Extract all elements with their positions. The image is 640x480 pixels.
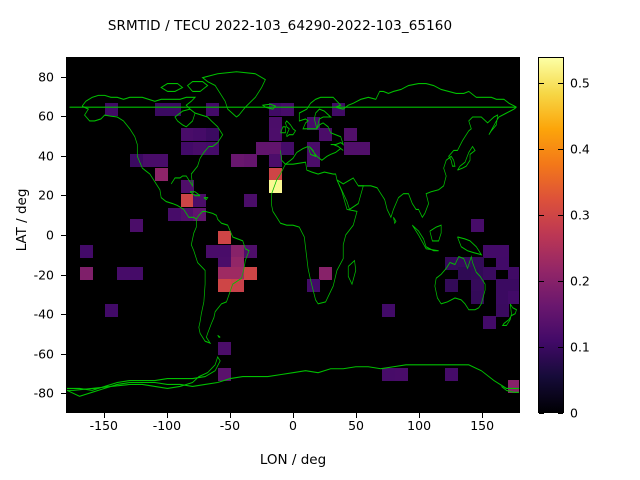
- heatmap-cell: [269, 128, 282, 141]
- chart-title: SRMTID / TECU 2022-103_64290-2022-103_65…: [0, 18, 560, 34]
- heatmap-cell: [395, 368, 408, 381]
- heatmap-cell: [244, 154, 257, 167]
- heatmap-cell: [181, 180, 194, 193]
- colorbar-tick-mark: [558, 347, 563, 348]
- heatmap-cell: [471, 291, 484, 304]
- heatmap-cell: [117, 267, 130, 280]
- heatmap-cell: [231, 279, 244, 292]
- y-axis-tick-label: -40: [0, 307, 54, 322]
- colorbar-tick-mark: [558, 215, 563, 216]
- heatmap-cell: [206, 245, 219, 258]
- heatmap-cell: [281, 142, 294, 155]
- heatmap-cell: [508, 291, 520, 304]
- x-axis-tick-label: 50: [321, 418, 391, 433]
- x-axis-tick-label: 0: [258, 418, 328, 433]
- x-axis-tick-label: 150: [447, 418, 517, 433]
- heatmap-cell: [244, 245, 257, 258]
- y-axis-tick-mark: [61, 314, 67, 315]
- heatmap-cell: [256, 142, 269, 155]
- y-axis-tick-mark: [61, 393, 67, 394]
- colorbar-tick-mark: [539, 281, 544, 282]
- heatmap-cell: [458, 267, 471, 280]
- heatmap-cell: [357, 142, 370, 155]
- heatmap-cell: [206, 128, 219, 141]
- heatmap-cell: [281, 103, 294, 116]
- colorbar-tick-mark: [539, 347, 544, 348]
- y-axis-tick-mark: [61, 195, 67, 196]
- heatmap-cell: [105, 304, 118, 317]
- heatmap-cell: [80, 267, 93, 280]
- heatmap-cell: [231, 154, 244, 167]
- heatmap-cell: [483, 316, 496, 329]
- heatmap-cell: [496, 257, 509, 270]
- x-axis-tick-label: -150: [69, 418, 139, 433]
- colorbar: [538, 57, 564, 413]
- heatmap-cell: [181, 142, 194, 155]
- y-axis-tick-label: -60: [0, 346, 54, 361]
- heatmap-cell: [344, 142, 357, 155]
- heatmap-cell: [496, 291, 509, 304]
- colorbar-tick-label: 0.4: [570, 142, 590, 157]
- heatmap-cell: [307, 154, 320, 167]
- heatmap-cell: [508, 380, 520, 393]
- y-axis-tick-mark: [61, 235, 67, 236]
- heatmap-cell: [181, 128, 194, 141]
- heatmap-cell: [382, 304, 395, 317]
- heatmap-cell: [181, 194, 194, 207]
- heatmap-cell: [218, 342, 231, 355]
- colorbar-tick-mark: [558, 413, 563, 414]
- y-axis-tick-mark: [61, 275, 67, 276]
- chart-root: SRMTID / TECU 2022-103_64290-2022-103_65…: [0, 0, 640, 480]
- colorbar-tick-label: 0.1: [570, 340, 590, 355]
- colorbar-tick-mark: [539, 413, 544, 414]
- heatmap-cell: [155, 154, 168, 167]
- colorbar-tick-label: 0.3: [570, 208, 590, 223]
- heatmap-cell: [168, 103, 181, 116]
- colorbar-tick-label: 0.5: [570, 76, 590, 91]
- y-axis-label: LAT / deg: [14, 160, 30, 280]
- heatmap-plot-area: [66, 57, 520, 413]
- x-axis-tick-mark: [167, 413, 168, 418]
- heatmap-cell: [155, 168, 168, 181]
- heatmap-cell: [307, 279, 320, 292]
- heatmap-cell: [80, 245, 93, 258]
- heatmap-cell: [319, 128, 332, 141]
- y-axis-tick-mark: [61, 156, 67, 157]
- heatmap-cell: [332, 103, 345, 116]
- x-axis-tick-mark: [230, 413, 231, 418]
- colorbar-tick-label: 0: [570, 406, 578, 421]
- colorbar-tick-mark: [539, 149, 544, 150]
- heatmap-cell: [269, 154, 282, 167]
- heatmap-cell: [130, 154, 143, 167]
- heatmap-cell: [105, 103, 118, 116]
- heatmap-cell: [307, 117, 320, 130]
- heatmap-cell: [168, 208, 181, 221]
- heatmap-cell: [206, 142, 219, 155]
- heatmap-cell: [218, 368, 231, 381]
- colorbar-tick-mark: [558, 83, 563, 84]
- heatmap-cell: [130, 267, 143, 280]
- heatmap-cell: [344, 128, 357, 141]
- heatmap-cells-layer: [67, 58, 519, 412]
- y-axis-tick-label: 80: [0, 69, 54, 84]
- colorbar-tick-mark: [539, 83, 544, 84]
- heatmap-cell: [382, 368, 395, 381]
- colorbar-tick-mark: [558, 149, 563, 150]
- colorbar-tick-label: 0.2: [570, 274, 590, 289]
- heatmap-cell: [445, 368, 458, 381]
- y-axis-tick-mark: [61, 77, 67, 78]
- heatmap-cell: [143, 154, 156, 167]
- heatmap-cell: [155, 103, 168, 116]
- y-axis-tick-mark: [61, 354, 67, 355]
- heatmap-cell: [496, 304, 509, 317]
- colorbar-tick-mark: [558, 281, 563, 282]
- heatmap-cell: [269, 180, 282, 193]
- heatmap-cell: [218, 279, 231, 292]
- heatmap-cell: [193, 194, 206, 207]
- heatmap-cell: [445, 257, 458, 270]
- heatmap-cell: [181, 208, 194, 221]
- y-axis-tick-mark: [61, 116, 67, 117]
- heatmap-cell: [483, 245, 496, 258]
- heatmap-cell: [130, 219, 143, 232]
- heatmap-cell: [218, 231, 231, 244]
- heatmap-cell: [244, 194, 257, 207]
- y-axis-tick-label: 60: [0, 109, 54, 124]
- heatmap-cell: [193, 142, 206, 155]
- x-axis-tick-mark: [356, 413, 357, 418]
- y-axis-tick-label: -80: [0, 386, 54, 401]
- x-axis-tick-mark: [293, 413, 294, 418]
- x-axis-tick-mark: [104, 413, 105, 418]
- heatmap-cell: [471, 219, 484, 232]
- heatmap-cell: [483, 267, 496, 280]
- heatmap-cell: [193, 208, 206, 221]
- colorbar-tick-mark: [539, 215, 544, 216]
- heatmap-cell: [445, 279, 458, 292]
- x-axis-label: LON / deg: [66, 452, 520, 468]
- heatmap-cell: [319, 267, 332, 280]
- x-axis-tick-mark: [482, 413, 483, 418]
- heatmap-cell: [244, 267, 257, 280]
- x-axis-tick-label: 100: [384, 418, 454, 433]
- heatmap-cell: [269, 103, 282, 116]
- x-axis-tick-label: -50: [195, 418, 265, 433]
- heatmap-cell: [193, 128, 206, 141]
- x-axis-tick-mark: [419, 413, 420, 418]
- heatmap-cell: [206, 103, 219, 116]
- x-axis-tick-label: -100: [132, 418, 202, 433]
